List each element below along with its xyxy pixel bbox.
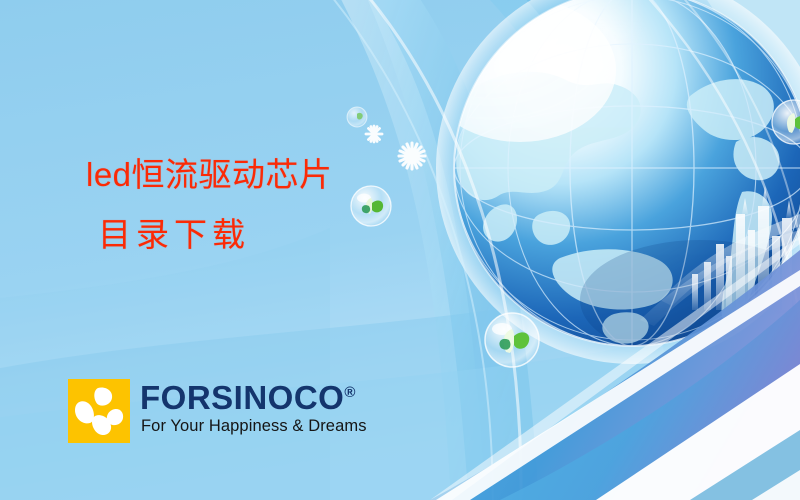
headline-line-2: 目录下载 [98,218,333,251]
company-logo[interactable]: FORSINOCO® For Your Happiness & Dreams [68,379,367,443]
registered-trademark-icon: ® [344,384,355,401]
headline-line-1: led恒流驱动芯片 [86,158,333,191]
headline-block: led恒流驱动芯片 目录下载 [86,158,333,251]
brand-name: FORSINOCO® [140,381,367,414]
brand-name-text: FORSINOCO [140,379,344,416]
four-petal-flower-icon [68,379,130,443]
brand-tagline: For Your Happiness & Dreams [141,417,367,436]
logo-wordmark: FORSINOCO® For Your Happiness & Dreams [140,379,367,436]
promo-banner: led恒流驱动芯片 目录下载 FORSINOCO® For Your Happi… [0,0,800,500]
